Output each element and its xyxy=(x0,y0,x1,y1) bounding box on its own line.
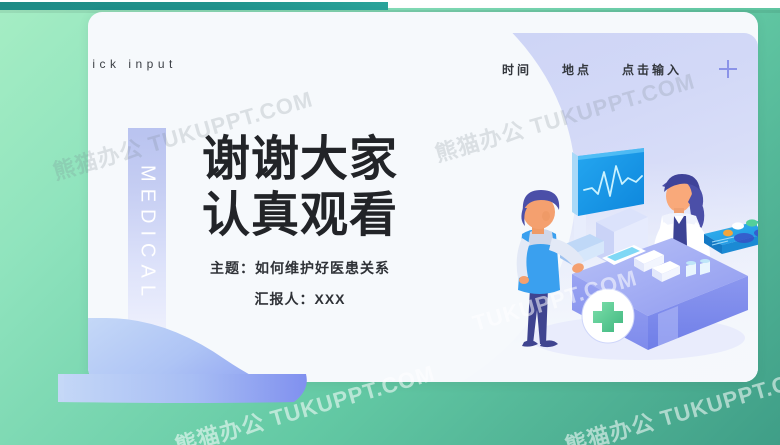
title-line-1: 谢谢大家 xyxy=(176,132,424,188)
subtitle-topic[interactable]: 主题：如何维护好医患关系 xyxy=(176,258,424,278)
medical-vertical-label: MEDICAL xyxy=(128,128,166,340)
content-card: Click input 时间 地点 点击输入 MEDICAL 谢谢大家 认真观看… xyxy=(88,12,758,382)
medical-cross-badge xyxy=(582,289,634,343)
blue-wave-shape xyxy=(88,316,398,382)
click-input-label[interactable]: Click input xyxy=(88,57,177,71)
header-item-time[interactable]: 时间 xyxy=(502,61,532,78)
medical-vertical-text: MEDICAL xyxy=(136,165,159,303)
slide-canvas: Click input 时间 地点 点击输入 MEDICAL 谢谢大家 认真观看… xyxy=(0,0,780,445)
subtitle-presenter[interactable]: 汇报人：XXX xyxy=(176,289,424,309)
blue-wave-tail xyxy=(58,374,318,408)
teal-top-strip xyxy=(0,2,388,10)
pharmacy-counter-illustration xyxy=(512,138,758,370)
header-item-place[interactable]: 地点 xyxy=(562,61,592,78)
header-nav: 时间 地点 点击输入 xyxy=(502,59,738,79)
header-item-click-input[interactable]: 点击输入 xyxy=(622,61,682,78)
plus-icon[interactable] xyxy=(718,59,738,79)
title-line-2: 认真观看 xyxy=(176,188,424,244)
title-block: 谢谢大家 认真观看 主题：如何维护好医患关系 汇报人：XXX xyxy=(176,132,424,309)
